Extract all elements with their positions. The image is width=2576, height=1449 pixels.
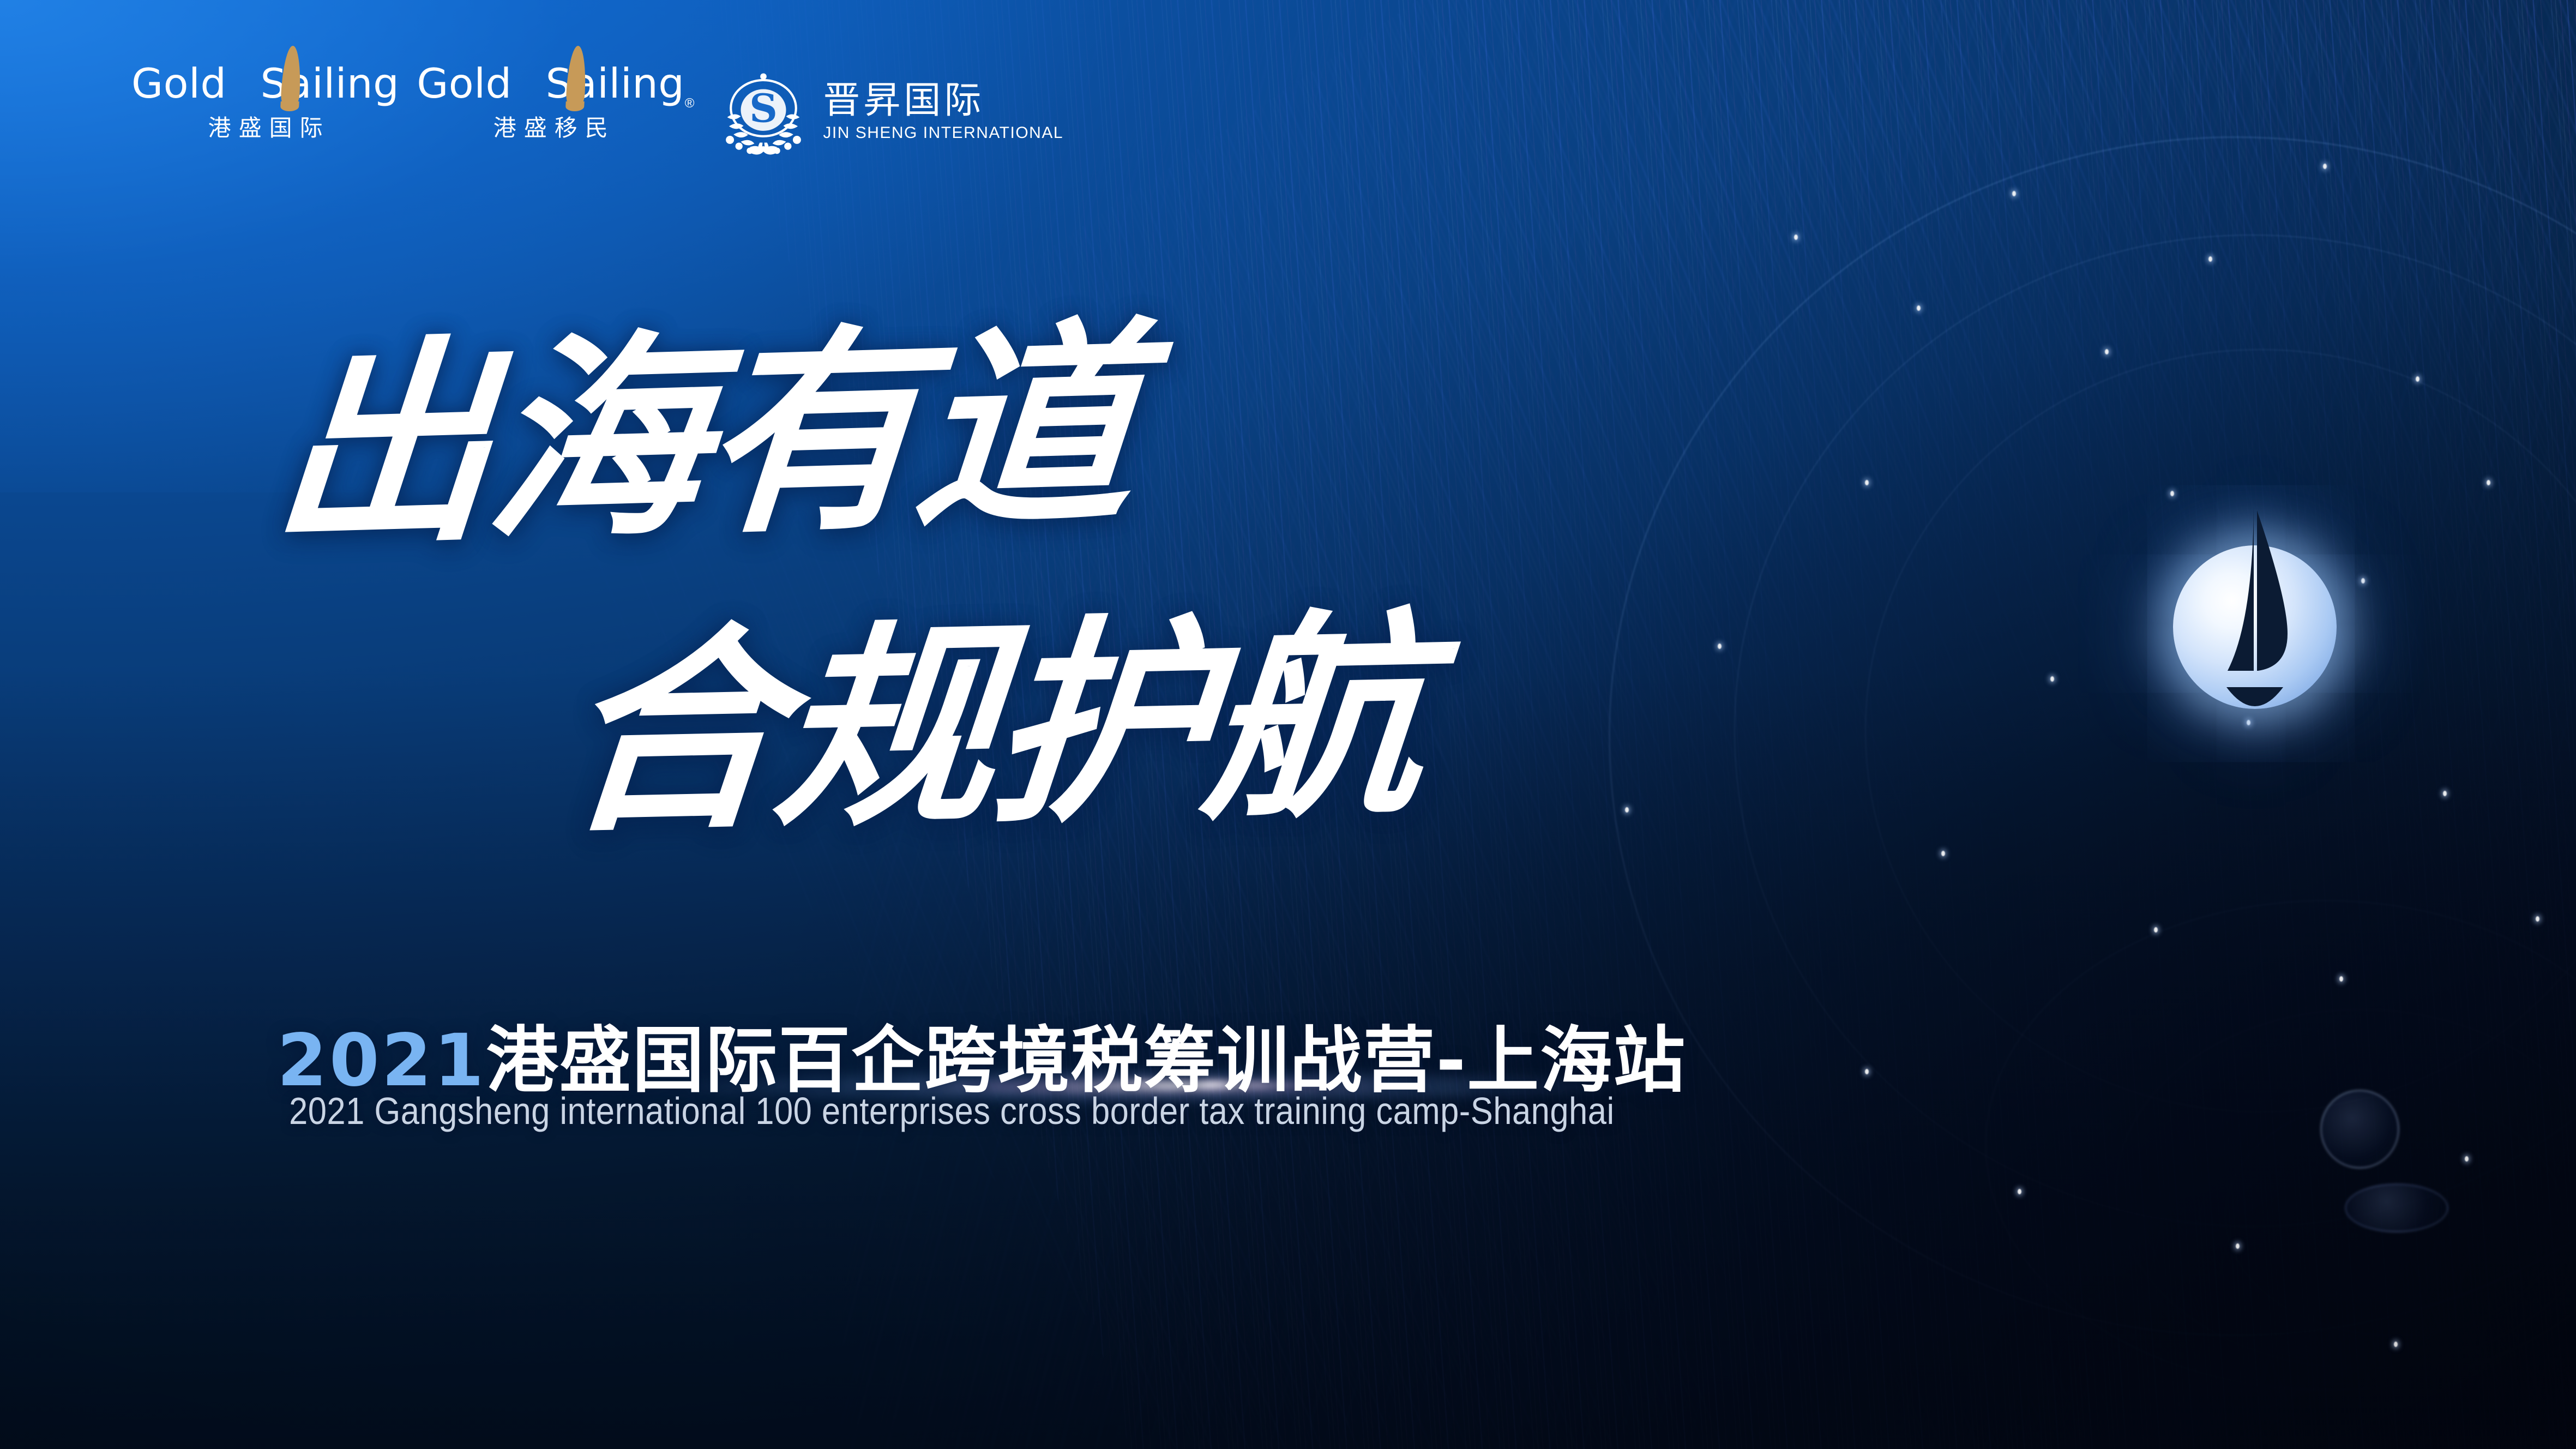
poster-canvas: GoldSailing 港盛国际 GoldSailing 港盛移民 ® S	[0, 0, 2576, 1449]
headline-line-1: 出海有道	[266, 315, 1140, 557]
registered-trademark-icon: ®	[685, 96, 695, 111]
subtitle-english: 2021 Gangsheng international 100 enterpr…	[289, 1089, 1615, 1133]
logo-gold-sailing-immigration[interactable]: GoldSailing 港盛移民 ®	[408, 64, 693, 143]
logo-chinese-name: 港盛移民	[486, 110, 616, 143]
jinsheng-english-name: JIN SHENG INTERNATIONAL	[823, 124, 1063, 142]
logo-wordmark: GoldSailing	[417, 64, 684, 103]
headline-line-2: 合规护航	[555, 608, 1430, 844]
jinsheng-chinese-name: 晋昇国际	[823, 81, 1063, 120]
lens-flare-orb	[2320, 1090, 2399, 1169]
logo-jinsheng-international[interactable]: S	[718, 64, 1063, 157]
logo-word-gold: Gold	[131, 59, 226, 107]
logo-bar: GoldSailing 港盛国际 GoldSailing 港盛移民 ® S	[123, 64, 1063, 157]
logo-gold-sailing-international[interactable]: GoldSailing 港盛国际	[123, 64, 408, 143]
moon-sailboat-group	[2173, 545, 2337, 709]
lens-flare-ring	[2345, 1183, 2448, 1232]
logo-chinese-name: 港盛国际	[201, 110, 330, 143]
logo-word-gold: Gold	[417, 59, 511, 107]
svg-text:S: S	[750, 85, 778, 131]
sailboat-silhouette-icon	[2206, 507, 2304, 736]
laurel-wreath-emblem-icon: S	[718, 67, 809, 157]
logo-wordmark: GoldSailing	[131, 64, 399, 103]
